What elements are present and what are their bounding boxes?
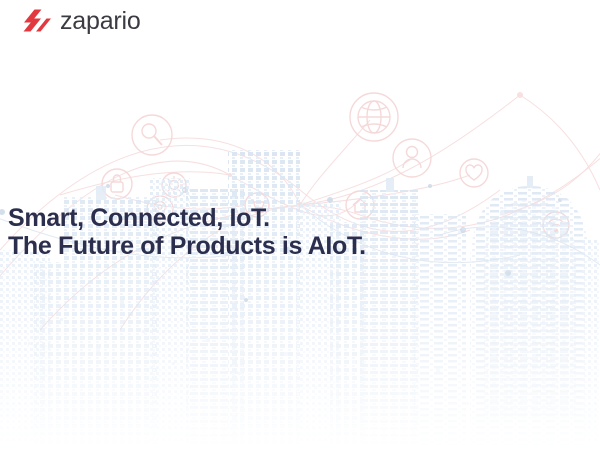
- gear-icon: [162, 173, 186, 197]
- heart-icon: [460, 159, 488, 187]
- zapario-logo-mark-icon: [22, 8, 52, 34]
- headline-line-2: The Future of Products is AIoT.: [8, 234, 366, 259]
- brand-name: zapario: [60, 9, 141, 34]
- user-icon: [393, 139, 431, 177]
- headline-line-1: Smart, Connected, IoT.: [8, 206, 366, 231]
- brand-logo[interactable]: zapario: [22, 6, 141, 36]
- globe-icon: [350, 93, 398, 141]
- wifi-icon: [543, 212, 569, 238]
- magnifier-icon: [132, 115, 172, 155]
- slide-canvas: zapario Smart, Connected, IoT. The Futur…: [0, 0, 600, 450]
- lock-icon: [102, 169, 132, 199]
- hero-headline: Smart, Connected, IoT. The Future of Pro…: [8, 206, 366, 259]
